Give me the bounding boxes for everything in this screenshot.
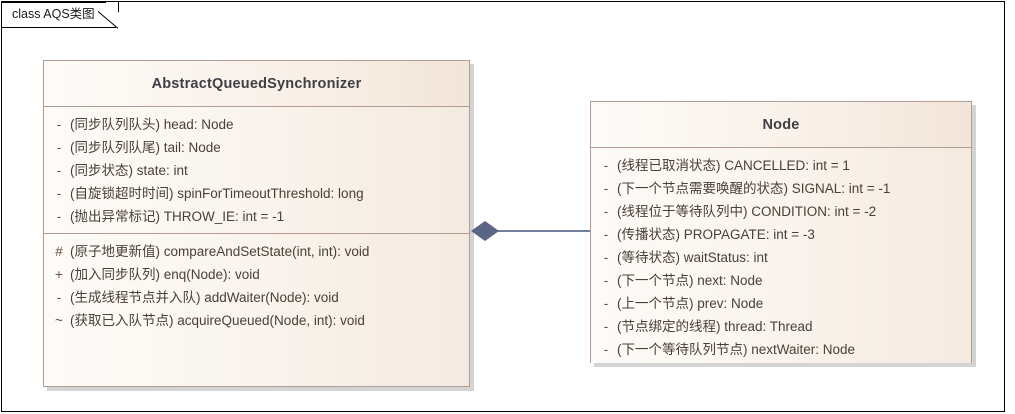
visibility-marker: - <box>595 296 617 311</box>
attribute-row: - (线程位于等待队列中) CONDITION: int = -2 <box>591 200 971 223</box>
attribute-row: - (等待状态) waitStatus: int <box>591 246 971 269</box>
attributes-compartment-aqs: - (同步队列队头) head: Node - (同步队列队尾) tail: N… <box>44 107 469 233</box>
attribute-signature: (线程位于等待队列中) CONDITION: int = -2 <box>617 200 876 220</box>
operation-signature: (获取已入队节点) acquireQueued(Node, int): void <box>70 309 365 329</box>
attribute-row: - (下一个节点需要唤醒的状态) SIGNAL: int = -1 <box>591 177 971 200</box>
visibility-marker: - <box>48 186 70 201</box>
attribute-signature: (抛出异常标记) THROW_IE: int = -1 <box>70 205 284 225</box>
frame-name-label: class AQS类图 <box>12 6 95 23</box>
operation-signature: (原子地更新值) compareAndSetState(int, int): v… <box>70 240 369 260</box>
attribute-signature: (下一个节点) next: Node <box>617 269 763 289</box>
attributes-compartment-node: - (线程已取消状态) CANCELLED: int = 1 - (下一个节点需… <box>591 148 971 363</box>
visibility-marker: - <box>595 227 617 242</box>
attribute-signature: (同步状态) state: int <box>70 159 188 179</box>
operation-row: - (生成线程节点并入队) addWaiter(Node): void <box>44 286 469 309</box>
visibility-marker: - <box>595 158 617 173</box>
attribute-row: - (节点绑定的线程) thread: Thread <box>591 315 971 338</box>
frame-tab-bottom-border <box>2 27 116 28</box>
operation-signature: (生成线程节点并入队) addWaiter(Node): void <box>70 286 339 306</box>
uml-diagram-frame: class AQS类图 AbstractQueuedSynchronizer -… <box>1 1 1005 412</box>
class-title-node: Node <box>591 102 971 148</box>
attribute-signature: (自旋锁超时时间) spinForTimeoutThreshold: long <box>70 182 364 202</box>
visibility-marker: - <box>595 204 617 219</box>
attribute-row: - (同步状态) state: int <box>44 159 469 182</box>
class-title-abstractqueuedsynchronizer: AbstractQueuedSynchronizer <box>44 61 469 107</box>
class-box-node[interactable]: Node - (线程已取消状态) CANCELLED: int = 1 - (下… <box>590 101 972 363</box>
attribute-signature: (下一个等待队列节点) nextWaiter: Node <box>617 338 855 358</box>
visibility-marker: - <box>595 250 617 265</box>
attribute-row: - (上一个节点) prev: Node <box>591 292 971 315</box>
visibility-marker: - <box>48 209 70 224</box>
visibility-marker: - <box>48 140 70 155</box>
visibility-marker: - <box>595 273 617 288</box>
visibility-marker: - <box>595 181 617 196</box>
class-box-abstractqueuedsynchronizer[interactable]: AbstractQueuedSynchronizer - (同步队列队头) he… <box>43 60 470 387</box>
visibility-marker: - <box>595 319 617 334</box>
operation-signature: (加入同步队列) enq(Node): void <box>70 263 260 283</box>
attribute-signature: (线程已取消状态) CANCELLED: int = 1 <box>617 154 850 174</box>
operation-row: + (加入同步队列) enq(Node): void <box>44 263 469 286</box>
attribute-row: - (自旋锁超时时间) spinForTimeoutThreshold: lon… <box>44 182 469 205</box>
attribute-row: - (下一个节点) next: Node <box>591 269 971 292</box>
composition-connector-line <box>494 230 591 232</box>
attribute-signature: (同步队列队头) head: Node <box>70 113 234 133</box>
visibility-marker: ~ <box>48 313 70 328</box>
attribute-row: - (同步队列队尾) tail: Node <box>44 136 469 159</box>
visibility-marker: - <box>48 117 70 132</box>
attribute-signature: (下一个节点需要唤醒的状态) SIGNAL: int = -1 <box>617 177 890 197</box>
operations-compartment-aqs: # (原子地更新值) compareAndSetState(int, int):… <box>44 233 469 386</box>
attribute-signature: (等待状态) waitStatus: int <box>617 246 768 266</box>
visibility-marker: + <box>48 267 70 282</box>
attribute-signature: (同步队列队尾) tail: Node <box>70 136 221 156</box>
frame-tab-top-border <box>2 2 106 3</box>
visibility-marker: - <box>48 163 70 178</box>
attribute-row: - (下一个等待队列节点) nextWaiter: Node <box>591 338 971 361</box>
operation-row: # (原子地更新值) compareAndSetState(int, int):… <box>44 240 469 263</box>
visibility-marker: # <box>48 244 70 259</box>
operation-row: ~ (获取已入队节点) acquireQueued(Node, int): vo… <box>44 309 469 332</box>
attribute-row: - (线程已取消状态) CANCELLED: int = 1 <box>591 154 971 177</box>
attribute-signature: (节点绑定的线程) thread: Thread <box>617 315 813 335</box>
composition-filled-diamond-icon <box>471 221 499 241</box>
attribute-signature: (上一个节点) prev: Node <box>617 292 763 312</box>
visibility-marker: - <box>48 290 70 305</box>
attribute-signature: (传播状态) PROPAGATE: int = -3 <box>617 223 815 243</box>
visibility-marker: - <box>595 342 617 357</box>
attribute-row: - (同步队列队头) head: Node <box>44 113 469 136</box>
attribute-row: - (传播状态) PROPAGATE: int = -3 <box>591 223 971 246</box>
attribute-row: - (抛出异常标记) THROW_IE: int = -1 <box>44 205 469 228</box>
